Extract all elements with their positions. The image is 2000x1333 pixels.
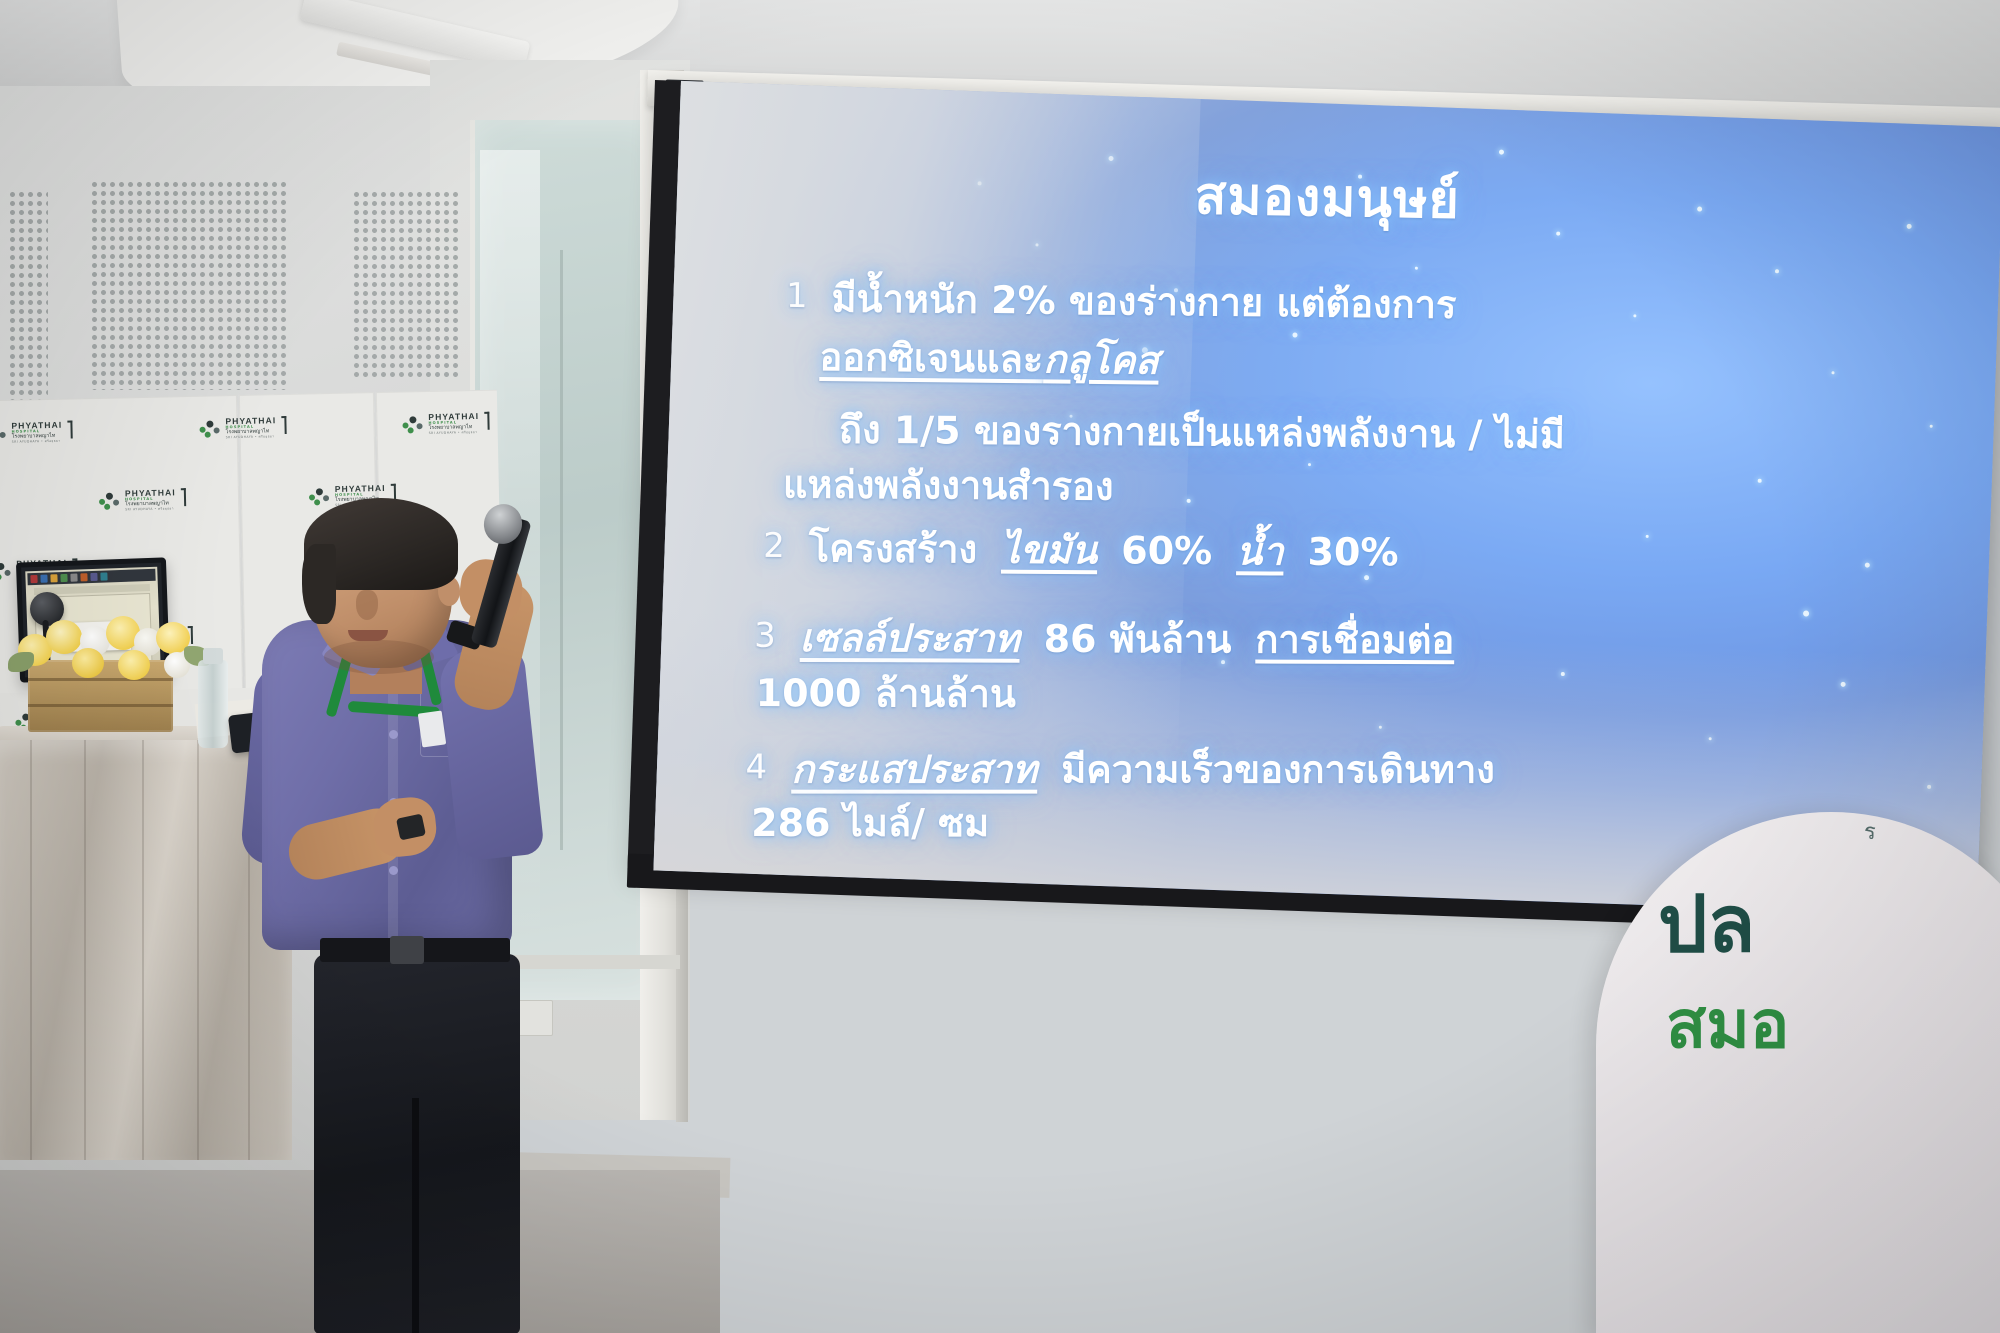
- phyathai-logo: PHYATHAI HOSPITAL โรงพยาบาลพญาไท SRI AYU…: [199, 416, 286, 440]
- presenter-mouth: [348, 630, 388, 641]
- standee-subline: สมอ: [1666, 972, 1789, 1077]
- presenter-trouser-seam: [412, 1098, 419, 1333]
- bullet-underlined-term-2: น้ำ: [1236, 528, 1284, 576]
- phyathai-mark-icon: [99, 491, 121, 511]
- bullet-underlined-term: กระแสประสาท: [791, 747, 1037, 795]
- slide-bullet-3-line2: 1000 ล้านล้าน: [756, 670, 1016, 718]
- phyathai-logo: PHYATHAI HOSPITAL โรงพยาบาลพญาไท SRI AYU…: [402, 412, 489, 436]
- shirt-button: [389, 730, 398, 739]
- phyathai-mark-icon: [402, 414, 424, 434]
- cloth-fold: [84, 740, 86, 1160]
- slide-bullet-1-line4: แหล่งพลังงานสำรอง: [783, 461, 1114, 511]
- bullet-number: 1: [785, 275, 807, 318]
- slide-bullet-2: 2 โครงสร้าง ไขมัน 60% น้ำ 30%: [763, 525, 1399, 577]
- bullet-underlined-term-2: การเชื่อมต่อ: [1255, 617, 1454, 665]
- shirt-button: [389, 866, 398, 875]
- phyathai-bracket-icon: [181, 488, 186, 506]
- bullet-prefix: โครงสร้าง: [809, 525, 978, 574]
- standee-headline: ปล: [1658, 862, 1755, 986]
- slide-title: สมองมนุษย์: [1007, 150, 1648, 244]
- bullet-rest: มีความเร็วของการเดินทาง: [1061, 747, 1495, 795]
- screen-surface: สมองมนุษย์ 1 มีน้ำหนัก 2% ของร่างกาย แต่…: [653, 81, 2000, 917]
- bullet-number: 3: [754, 615, 776, 658]
- presenter-chin-shadow: [324, 640, 434, 674]
- bullet-line: มีน้ำหนัก 2% ของร่างกาย แต่ต้องการ: [831, 275, 1456, 329]
- slide-bullet-4: 4 กระแสประสาทมีความเร็วของการเดินทาง: [745, 747, 1495, 795]
- slide-bullet-1: 1 มีน้ำหนัก 2% ของร่างกาย แต่ต้องการ: [785, 275, 1456, 330]
- dock-icon[interactable]: [70, 574, 77, 582]
- presenter-nose: [356, 590, 378, 620]
- dock-icon[interactable]: [100, 572, 107, 580]
- dock-icon[interactable]: [40, 575, 47, 583]
- dock-icon[interactable]: [90, 573, 97, 581]
- cloth-fold: [197, 740, 199, 1160]
- slide-bullet-1-line2: ออกซิเจนและกลูโคส: [819, 334, 1159, 385]
- standee-small-text: ร: [1864, 814, 1876, 849]
- projection-screen: สมองมนุษย์ 1 มีน้ำหนัก 2% ของร่างกาย แต่…: [627, 80, 2000, 917]
- slide-content: สมองมนุษย์ 1 มีน้ำหนัก 2% ของร่างกาย แต่…: [653, 81, 2000, 917]
- bullet-value: 86 พันล้าน: [1044, 616, 1232, 664]
- laptop-taskbar: [27, 569, 155, 585]
- cloth-fold: [30, 740, 32, 1160]
- belt-buckle: [390, 936, 424, 964]
- dock-icon[interactable]: [60, 574, 67, 582]
- slide-bullet-3: 3 เซลล์ประสาท 86 พันล้าน การเชื่อมต่อ: [754, 615, 1455, 665]
- slide-bullet-4-line2: 286 ไมล์/ ซม: [751, 800, 989, 848]
- bullet-value-2: 30%: [1307, 529, 1398, 577]
- flower-yellow: [72, 648, 104, 678]
- dock-icon[interactable]: [50, 574, 57, 582]
- phyathai-logo: PHYATHAI HOSPITAL โรงพยาบาลพญาไท SRI AYU…: [0, 420, 73, 444]
- phyathai-mark-icon: [0, 561, 13, 581]
- bullet-line: ถึง 1/5 ของรางกายเป็นแหล่งพลังงาน / ไม่ม…: [839, 408, 1565, 457]
- bullet-number: 4: [745, 747, 767, 790]
- event-standee: ร ปล สมอ: [1596, 812, 2000, 1333]
- phyathai-mark-icon: [0, 423, 8, 443]
- bullet-line: 1000 ล้านล้าน: [756, 671, 1016, 716]
- water-bottle[interactable]: [198, 660, 228, 748]
- bullet-underlined-term: เซลล์ประสาท: [800, 615, 1020, 663]
- crate-slat: [28, 704, 173, 707]
- acoustic-panel-2: [90, 180, 290, 390]
- flower-yellow: [46, 620, 82, 654]
- photo-scene: PHYATHAI HOSPITAL โรงพยาบาลพญาไท SRI AYU…: [0, 0, 2000, 1333]
- phyathai-logo: PHYATHAI HOSPITAL โรงพยาบาลพญาไท SRI AYU…: [99, 488, 186, 512]
- lanyard-badge: [418, 710, 446, 747]
- bullet-underlined-term-2: กลูโคส: [1043, 337, 1159, 382]
- presenter-hair-side: [302, 544, 336, 624]
- flower-arrangement: [14, 612, 204, 688]
- slide-bullet-1-line3: ถึง 1/5 ของรางกายเป็นแหล่งพลังงาน / ไม่ม…: [839, 407, 1565, 460]
- dock-icon[interactable]: [30, 575, 37, 583]
- acoustic-panel-3: [352, 190, 462, 380]
- bullet-line: แหล่งพลังงานสำรอง: [783, 462, 1114, 508]
- bullet-underlined-term: ออกซิเจนและ: [819, 335, 1043, 381]
- phyathai-bracket-icon: [281, 416, 286, 434]
- phyathai-bracket-icon: [484, 412, 489, 430]
- dock-icon[interactable]: [80, 573, 87, 581]
- bottle-cap[interactable]: [203, 648, 223, 664]
- bullet-value: 60%: [1121, 527, 1212, 575]
- cloth-fold: [142, 740, 144, 1160]
- flower-yellow: [118, 650, 150, 680]
- bullet-line: 286 ไมล์/ ซม: [751, 801, 989, 845]
- flower-green-leaf: [8, 652, 34, 672]
- glass-mullion: [560, 250, 563, 850]
- phyathai-mark-icon: [199, 419, 221, 439]
- acoustic-panel-1: [8, 190, 48, 400]
- phyathai-bracket-icon: [67, 420, 72, 438]
- presenter: [252, 498, 532, 1333]
- bullet-number: 2: [763, 525, 785, 568]
- bullet-underlined-term: ไขมัน: [1001, 527, 1097, 575]
